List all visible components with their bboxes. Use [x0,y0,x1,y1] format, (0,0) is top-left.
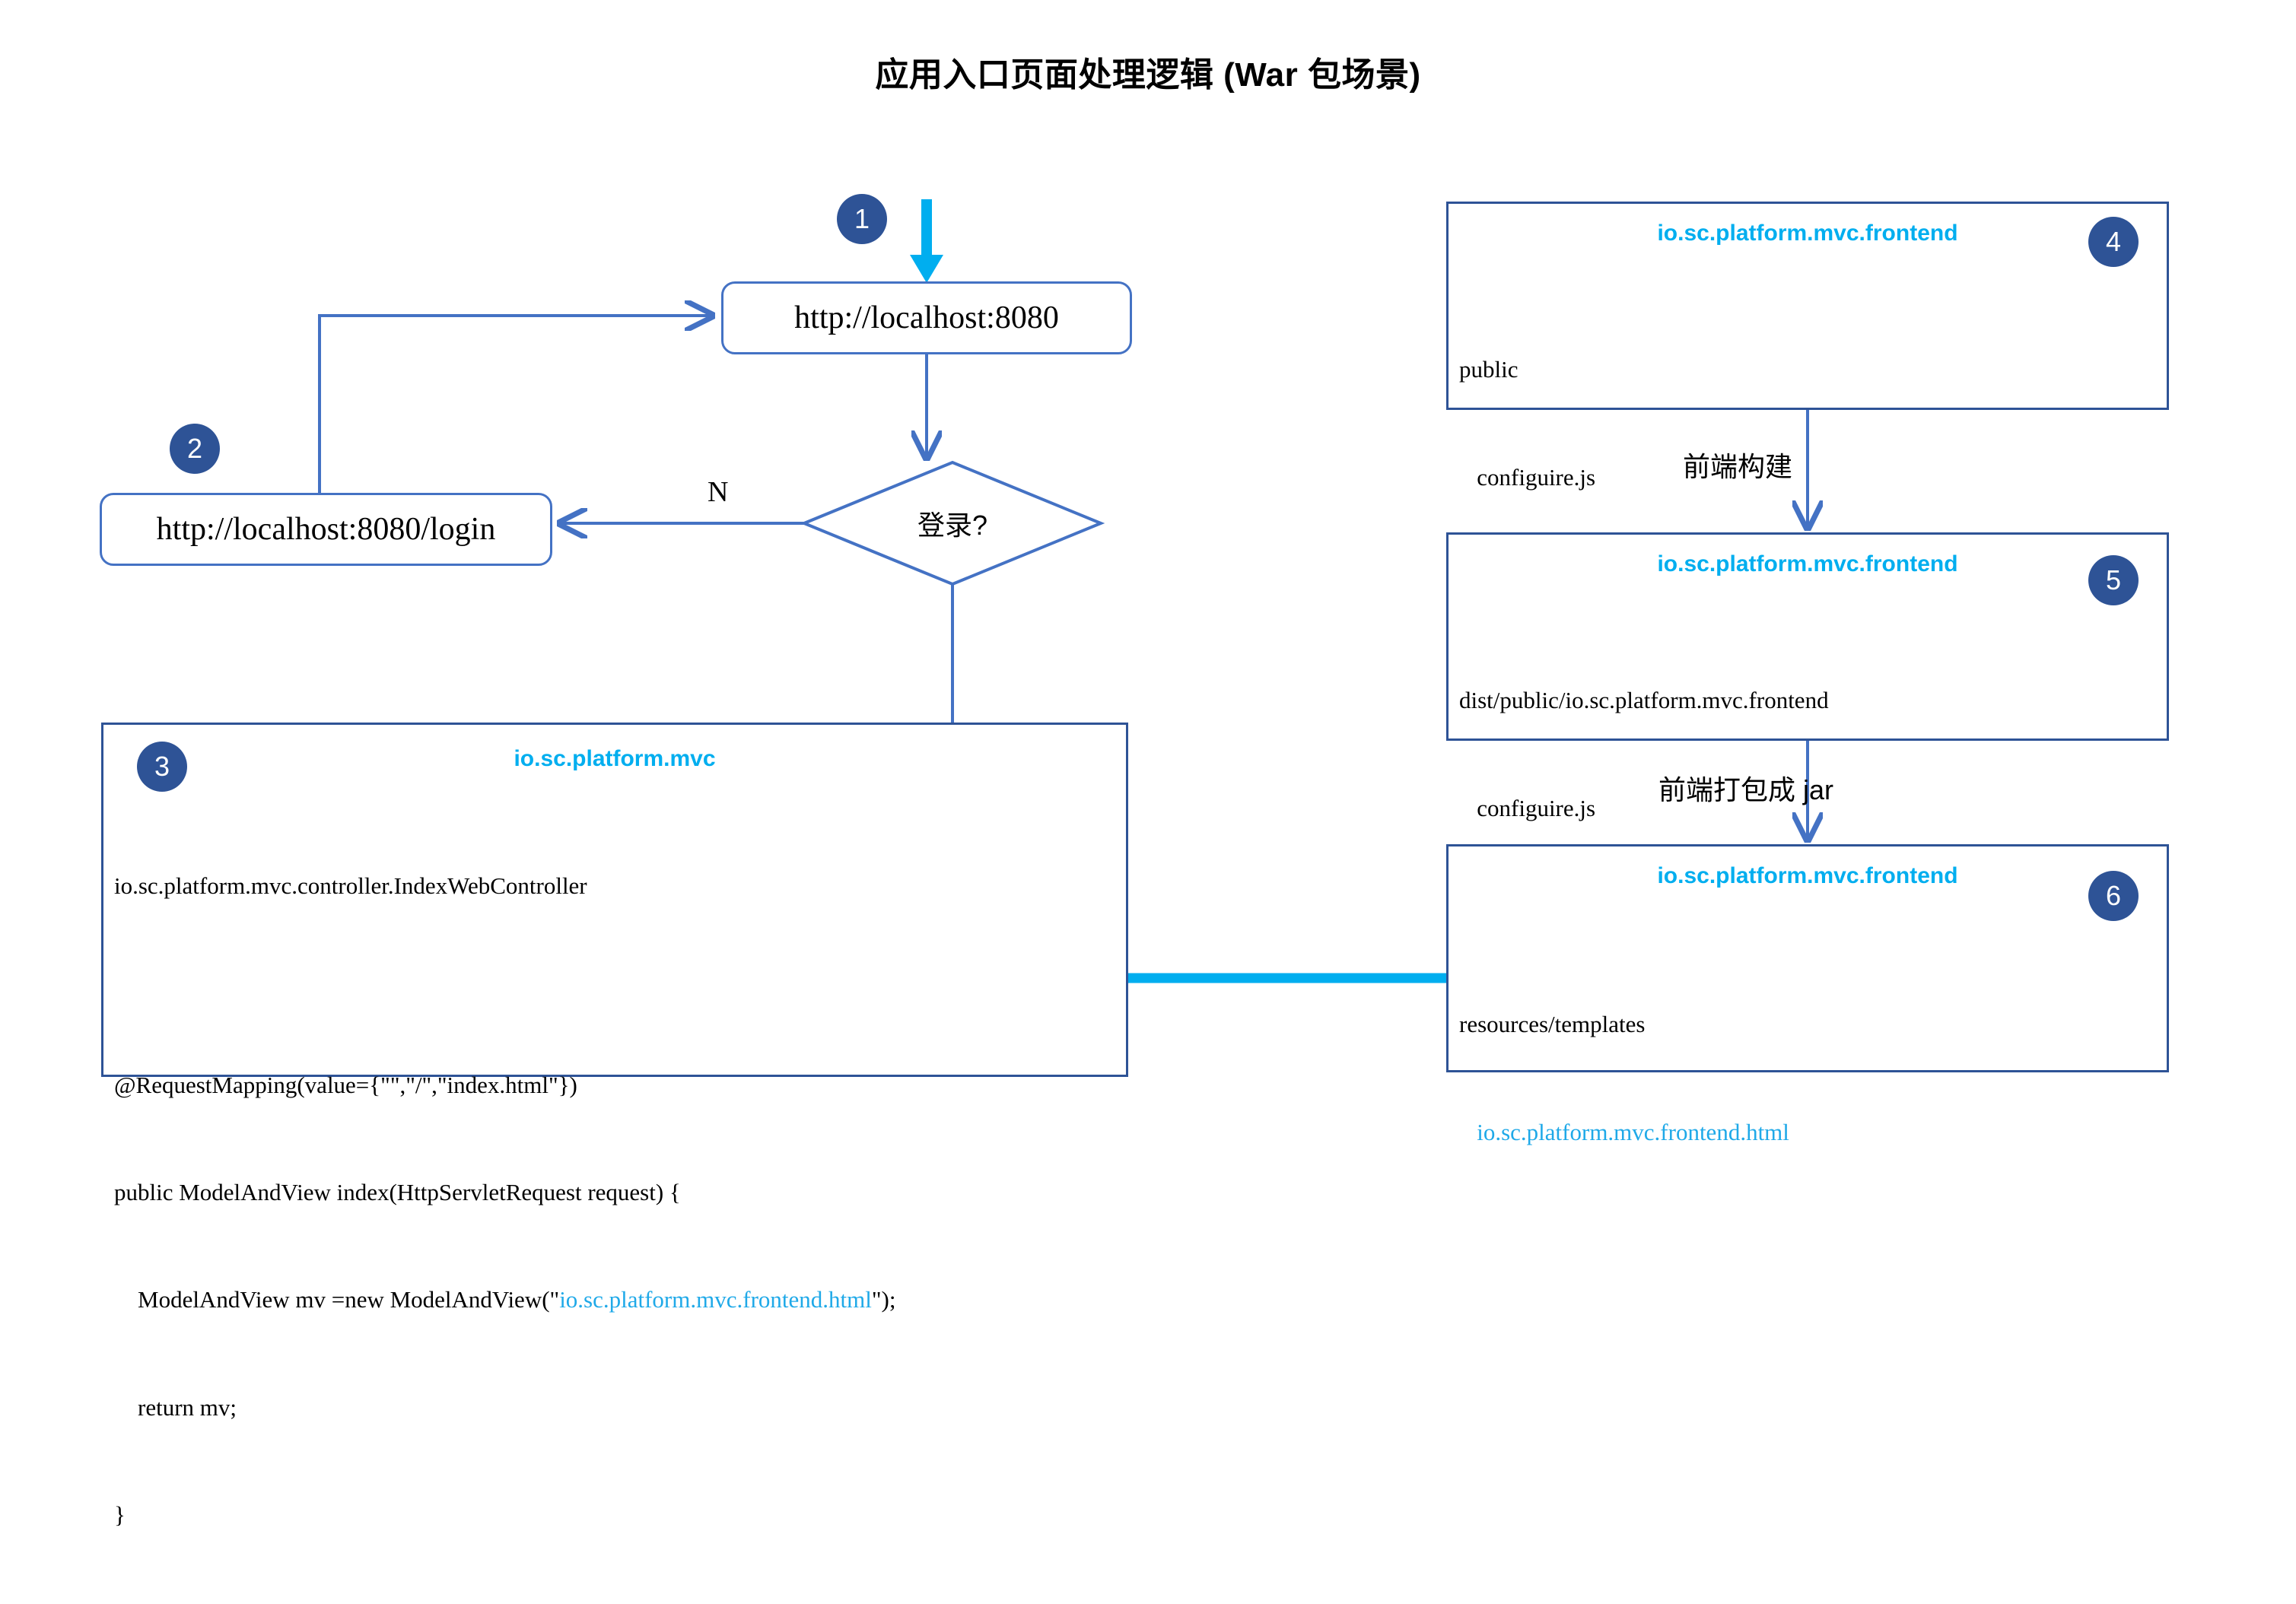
list-item: dist/public/io.sc.platform.mvc.frontend [1459,682,1829,718]
connector-label-package: 前端打包成 jar [1658,768,1833,808]
code-panel-title: io.sc.platform.mvc [103,746,1126,772]
url-login-label: http://localhost:8080/login [157,511,496,548]
step-badge-1: 1 [837,194,887,244]
entry-cyan-arrow [910,199,943,283]
url-root-label: http://localhost:8080 [794,300,1059,336]
frontend-source-panel: io.sc.platform.mvc.frontend public confi… [1446,202,2169,410]
code-panel: io.sc.platform.mvc io.sc.platform.mvc.co… [101,723,1128,1077]
step-badge-2: 2 [170,424,220,474]
frontend-resources-listing: resources/templates io.sc.platform.mvc.f… [1459,935,1789,1221]
diagram-canvas: 应用入口页面处理逻辑 (War 包场景) [0,0,2296,1126]
code-line: } [114,1497,895,1533]
code-listing: io.sc.platform.mvc.controller.IndexWebCo… [114,796,895,1604]
code-line: @RequestMapping(value={"","/","index.htm… [114,1067,895,1103]
decision-node: 登录? [804,462,1101,584]
url-box-login[interactable]: http://localhost:8080/login [100,493,552,566]
code-line-suffix: "); [872,1286,896,1313]
page-title: 应用入口页面处理逻辑 (War 包场景) [0,47,2296,96]
url-box-root[interactable]: http://localhost:8080 [721,281,1132,354]
frontend-resources-panel: io.sc.platform.mvc.frontend resources/te… [1446,844,2169,1072]
code-line: return mv; [114,1390,895,1425]
code-view-name: io.sc.platform.mvc.frontend.html [559,1286,872,1313]
step-badge-6: 6 [2088,871,2139,921]
code-line: public ModelAndView index(HttpServletReq… [114,1174,895,1210]
decision-no-label: N [708,475,728,509]
step-badge-3: 3 [137,742,187,792]
frontend-resources-title: io.sc.platform.mvc.frontend [1449,863,2167,889]
list-item: resources/templates [1459,1006,1789,1042]
code-line: io.sc.platform.mvc.controller.IndexWebCo… [114,868,895,904]
wire-login-back-to-root [320,316,709,493]
frontend-source-title: io.sc.platform.mvc.frontend [1449,221,2167,246]
list-item: configuire.js [1459,459,1595,495]
list-item: public [1459,351,1595,387]
frontend-dist-panel: io.sc.platform.mvc.frontend dist/public/… [1446,532,2169,741]
step-badge-4: 4 [2088,217,2139,267]
step-badge-5: 5 [2088,555,2139,605]
code-line-prefix: ModelAndView mv =new ModelAndView(" [114,1286,559,1313]
connector-label-build: 前端构建 [1683,445,1792,484]
code-line-with-link: ModelAndView mv =new ModelAndView("io.sc… [114,1282,895,1317]
frontend-dist-title: io.sc.platform.mvc.frontend [1449,551,2167,577]
decision-label: 登录? [804,462,1101,584]
list-item-template-file: io.sc.platform.mvc.frontend.html [1459,1114,1789,1150]
code-line-blank [114,976,895,996]
